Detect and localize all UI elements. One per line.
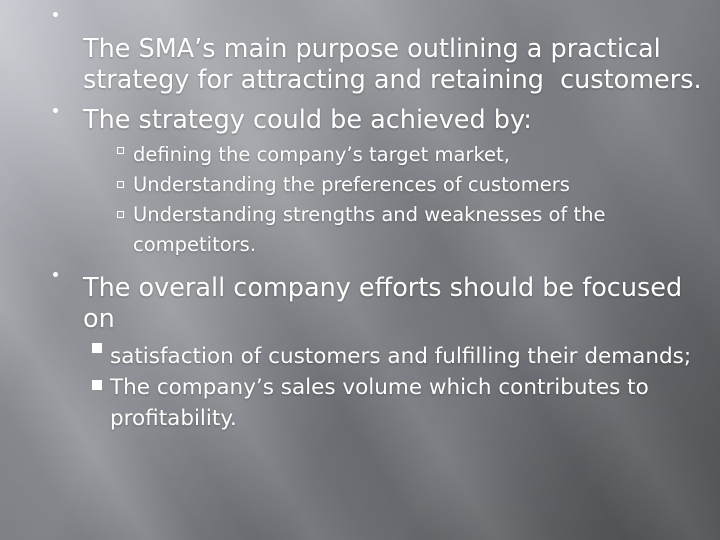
list-item: Understanding strengths and weaknesses o… (0, 200, 720, 260)
list-item: The SMA’s main purpose outlining a pract… (0, 0, 720, 96)
hollow-square-bullet-icon (117, 147, 124, 154)
bullet-list: The SMA’s main purpose outlining a pract… (0, 0, 720, 434)
list-item-text: satisfaction of customers and fulfilling… (110, 344, 691, 369)
list-item-text: The SMA’s main purpose outlining a pract… (83, 34, 702, 95)
list-item-text: The strategy could be achieved by: (83, 105, 532, 135)
list-item-text: defining the company’s target market, (133, 143, 510, 166)
round-dot-bullet-icon (53, 108, 58, 113)
list-item-text: The company’s sales volume which contrib… (110, 375, 656, 431)
hollow-square-bullet-icon (117, 181, 124, 188)
filled-square-bullet-icon (92, 380, 102, 390)
list-item-text: Understanding strengths and weaknesses o… (133, 203, 612, 256)
list-item: satisfaction of customers and fulfilling… (0, 335, 720, 372)
hollow-square-bullet-icon (117, 211, 124, 218)
list-item-text: Understanding the preferences of custome… (133, 173, 570, 196)
list-item: defining the company’s target market, (0, 136, 720, 170)
list-item-text: The overall company efforts should be fo… (83, 273, 690, 334)
filled-square-bullet-icon (92, 343, 102, 353)
round-dot-bullet-icon (53, 272, 58, 277)
list-item: Understanding the preferences of custome… (0, 170, 720, 200)
list-item: The strategy could be achieved by: (0, 96, 720, 136)
round-dot-bullet-icon (53, 12, 58, 17)
list-item: The overall company efforts should be fo… (0, 260, 720, 335)
list-item: The company’s sales volume which contrib… (0, 372, 720, 434)
slide-content-body: The SMA’s main purpose outlining a pract… (0, 0, 720, 434)
presentation-slide: The SMA’s main purpose outlining a pract… (0, 0, 720, 540)
